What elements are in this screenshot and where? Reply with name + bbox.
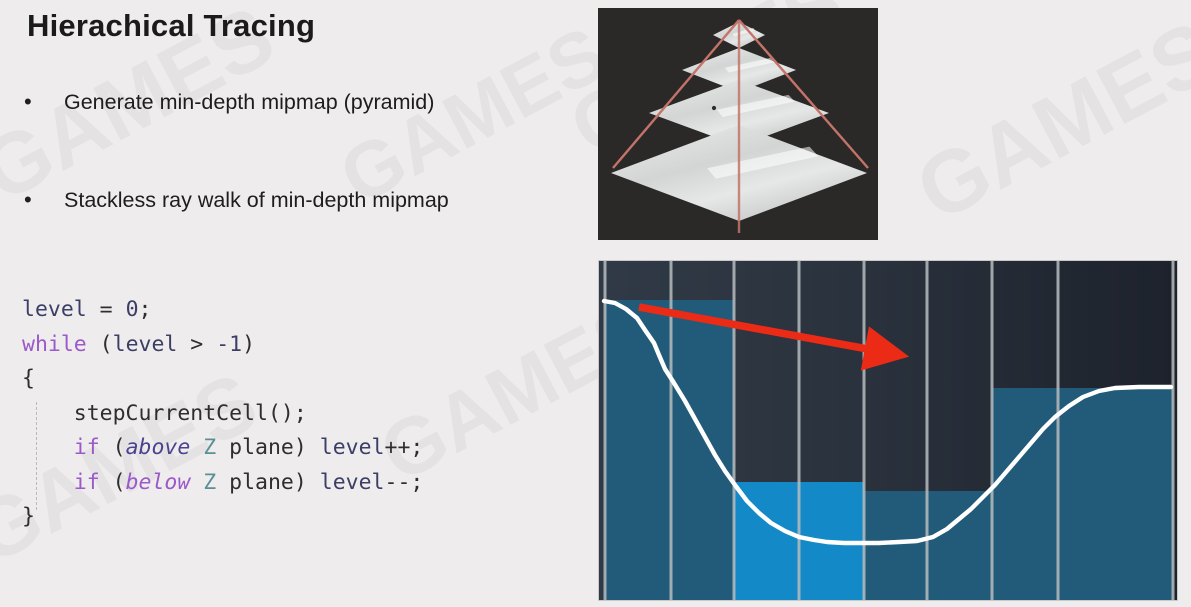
page-title: Hierachical Tracing [27, 8, 315, 44]
code-token: ) [294, 435, 320, 460]
code-token: ( [100, 435, 126, 460]
code-line-1: while (level > -1) [22, 328, 423, 363]
bullet-item-1: • Stackless ray walk of min-depth mipmap [24, 187, 449, 213]
hiz-cell-1 [671, 300, 734, 600]
code-token: if [74, 470, 100, 495]
code-token: ++; [385, 435, 424, 460]
pyramid-surface-speck [712, 106, 716, 110]
code-token: -1 [216, 332, 242, 357]
hiz-cell-5 [927, 491, 992, 600]
code-token: > [177, 332, 216, 357]
code-token: level [22, 297, 87, 322]
code-token: 0 [126, 297, 139, 322]
code-token: plane [216, 470, 294, 495]
code-line-3: stepCurrentCell(); [22, 397, 423, 432]
pyramid-illustration [598, 8, 878, 240]
code-token: } [22, 504, 35, 529]
code-token: ( [87, 332, 113, 357]
code-token [190, 435, 203, 460]
hiz-cell-4 [864, 491, 927, 600]
code-block: level = 0;while (level > -1){ stepCurren… [22, 293, 423, 535]
code-token: ( [100, 470, 126, 495]
mipmap-pyramid-figure [598, 8, 878, 240]
code-line-4: if (above Z plane) level++; [22, 431, 423, 466]
bullet-marker-icon: • [24, 89, 42, 115]
watermark-games-4: GAMES [900, 0, 1191, 242]
code-token: level [113, 332, 178, 357]
code-token: level [320, 435, 385, 460]
code-token: while [22, 332, 87, 357]
code-token: --; [385, 470, 424, 495]
code-token: ) [242, 332, 255, 357]
code-token: below [126, 470, 191, 495]
code-token: stepCurrentCell [74, 401, 268, 426]
code-token [22, 401, 74, 426]
code-token: above [126, 435, 191, 460]
code-token: ; [139, 297, 152, 322]
code-token: { [22, 366, 35, 391]
code-token: level [320, 470, 385, 495]
code-token [22, 470, 74, 495]
slide-canvas: GAMES GAMES GAMES GAMES GAMES GAMES SIGG… [0, 0, 1191, 607]
code-token [22, 435, 74, 460]
code-token: plane [216, 435, 294, 460]
code-token: = [87, 297, 126, 322]
hiz-cell-0 [605, 300, 671, 600]
code-line-2: { [22, 362, 423, 397]
bullet-text-1: Stackless ray walk of min-depth mipmap [64, 187, 449, 213]
code-indent-guide [36, 402, 37, 510]
code-token: Z [203, 435, 216, 460]
hiz-ray-walk-figure [598, 260, 1178, 601]
bullet-marker-icon: • [24, 187, 42, 213]
code-token [190, 470, 203, 495]
hiz-diagram-illustration [599, 261, 1177, 600]
code-token: Z [203, 470, 216, 495]
bullet-item-0: • Generate min-depth mipmap (pyramid) [24, 89, 434, 115]
code-token: if [74, 435, 100, 460]
code-token: ) [294, 470, 320, 495]
hiz-cell-6 [992, 388, 1058, 600]
hiz-cell-7 [1058, 388, 1173, 600]
bullet-text-0: Generate min-depth mipmap (pyramid) [64, 89, 434, 115]
code-line-0: level = 0; [22, 293, 423, 328]
code-token: (); [268, 401, 307, 426]
code-line-5: if (below Z plane) level--; [22, 466, 423, 501]
code-line-6: } [22, 500, 423, 535]
